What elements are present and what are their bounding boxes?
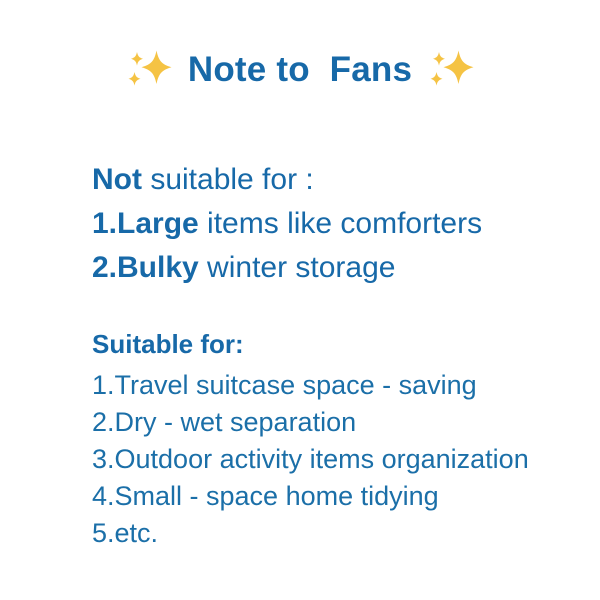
- not-suitable-heading: Not suitable for :: [92, 158, 592, 202]
- not-suitable-item-2-rest: winter storage: [199, 251, 396, 284]
- not-suitable-heading-emphasis: Not: [92, 163, 142, 196]
- not-suitable-section: Not suitable for : 1.Large items like co…: [92, 158, 592, 290]
- sparkles-icon-right: [425, 44, 477, 96]
- suitable-item-3: 3.Outdoor activity items organization: [92, 441, 592, 478]
- not-suitable-item-2-emphasis: 2.Bulky: [92, 251, 199, 284]
- page-header: Note to Fans: [0, 44, 600, 96]
- suitable-section: Suitable for: 1.Travel suitcase space - …: [92, 326, 592, 552]
- suitable-heading: Suitable for:: [92, 326, 592, 362]
- suitable-item-2: 2.Dry - wet separation: [92, 404, 592, 441]
- suitable-item-1: 1.Travel suitcase space - saving: [92, 367, 592, 404]
- not-suitable-item-1: 1.Large items like comforters: [92, 202, 592, 246]
- page-title: Note to Fans: [175, 50, 425, 90]
- suitable-item-5: 5.etc.: [92, 515, 592, 552]
- note-to-fans-card: Note to Fans Not suitable for : 1.Large …: [0, 0, 600, 600]
- sparkles-icon-left: [123, 44, 175, 96]
- not-suitable-item-1-emphasis: 1.Large: [92, 207, 199, 240]
- suitable-item-4: 4.Small - space home tidying: [92, 478, 592, 515]
- not-suitable-item-2: 2.Bulky winter storage: [92, 246, 592, 290]
- not-suitable-item-1-rest: items like comforters: [199, 207, 482, 240]
- not-suitable-heading-rest: suitable for :: [142, 163, 314, 196]
